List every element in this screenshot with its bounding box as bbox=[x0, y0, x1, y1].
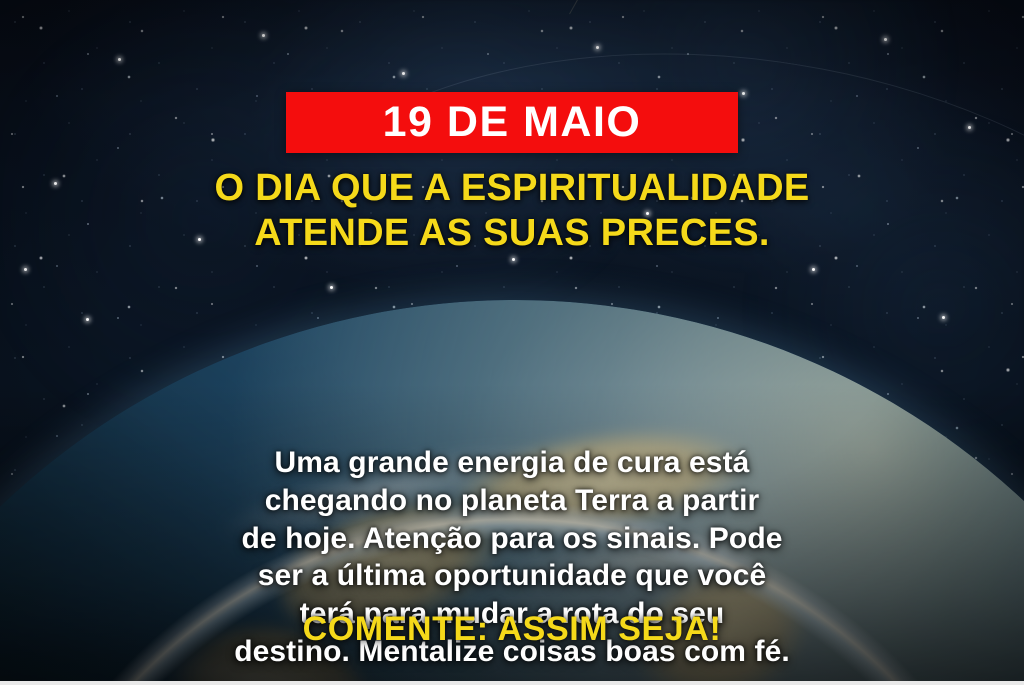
headline-line-1: O DIA QUE A ESPIRITUALIDADE bbox=[42, 166, 982, 211]
poster-canvas: 19 DE MAIO O DIA QUE A ESPIRITUALIDADE A… bbox=[0, 0, 1024, 685]
headline: O DIA QUE A ESPIRITUALIDADE ATENDE AS SU… bbox=[0, 166, 1024, 256]
body-copy-line-4: ser a última oportunidade que você bbox=[52, 557, 972, 595]
date-banner-label: 19 DE MAIO bbox=[383, 101, 642, 144]
body-copy-line-3: de hoje. Atenção para os sinais. Pode bbox=[52, 520, 972, 558]
bottom-edge-strip bbox=[0, 681, 1024, 685]
headline-line-2: ATENDE AS SUAS PRECES. bbox=[42, 211, 982, 256]
poster-content: 19 DE MAIO O DIA QUE A ESPIRITUALIDADE A… bbox=[0, 0, 1024, 685]
call-to-action-text: COMENTE: ASSIM SEJA! bbox=[0, 612, 1024, 646]
date-banner: 19 DE MAIO bbox=[286, 92, 738, 153]
body-copy-line-2: chegando no planeta Terra a partir bbox=[52, 482, 972, 520]
body-copy-line-1: Uma grande energia de cura está bbox=[52, 444, 972, 482]
